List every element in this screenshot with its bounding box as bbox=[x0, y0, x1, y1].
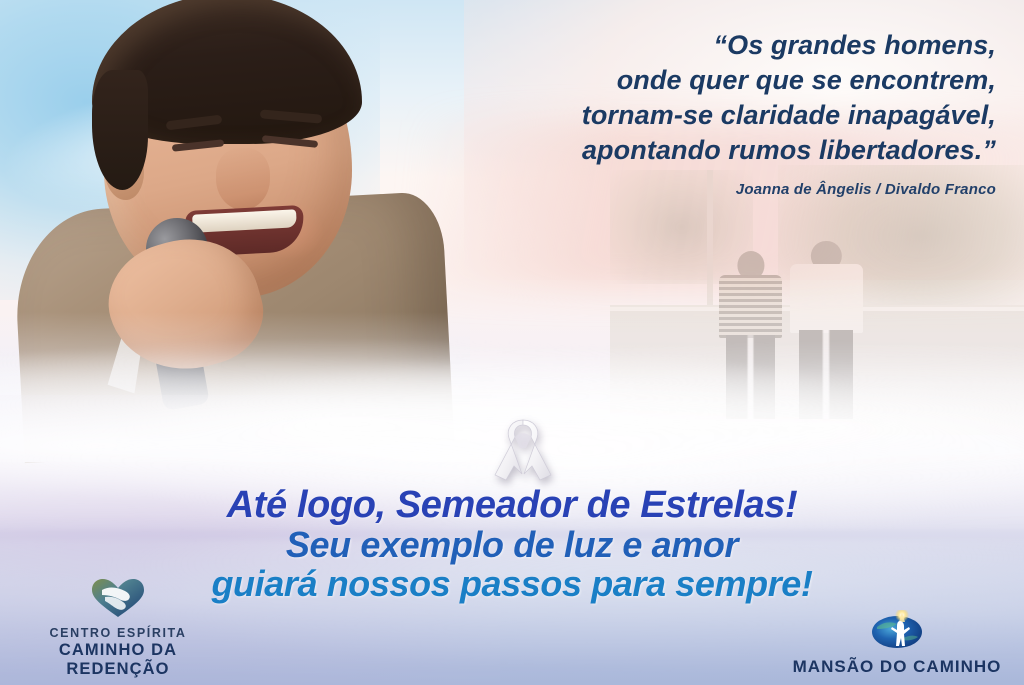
white-ribbon-icon bbox=[492, 412, 554, 486]
globe-figure-icon bbox=[782, 610, 1012, 655]
photo-person-torso bbox=[719, 275, 782, 339]
logo-left-line-2: CAMINHO DA REDENÇÃO bbox=[8, 641, 228, 679]
quote-attribution: Joanna de Ângelis / Divaldo Franco bbox=[440, 181, 996, 198]
portrait-teeth bbox=[192, 209, 297, 232]
logo-mansao-do-caminho: MANSÃO DO CAMINHO bbox=[782, 610, 1012, 677]
quote-line-1: “Os grandes homens, bbox=[440, 28, 996, 63]
logo-left-line-1: CENTRO ESPÍRITA bbox=[8, 626, 228, 641]
heart-hands-icon bbox=[8, 577, 228, 624]
logo-right-line-1: MANSÃO DO CAMINHO bbox=[782, 657, 1012, 677]
headline-line-1: Até logo, Semeador de Estrelas! bbox=[0, 486, 1024, 525]
quote-line-3: tornam-se claridade inapagável, bbox=[440, 98, 996, 133]
portrait-hair-sideburn bbox=[92, 70, 148, 190]
quote-block: “Os grandes homens, onde quer que se enc… bbox=[440, 28, 996, 198]
portrait-nose bbox=[216, 148, 270, 210]
photo-person-torso bbox=[790, 264, 863, 333]
headline-line-2: Seu exemplo de luz e amor bbox=[0, 525, 1024, 564]
logo-centro-espirita: CENTRO ESPÍRITA CAMINHO DA REDENÇÃO bbox=[8, 577, 228, 679]
quote-line-4: apontando rumos libertadores.” bbox=[440, 133, 996, 168]
memorial-poster: “Os grandes homens, onde quer que se enc… bbox=[0, 0, 1024, 685]
quote-line-2: onde quer que se encontrem, bbox=[440, 63, 996, 98]
